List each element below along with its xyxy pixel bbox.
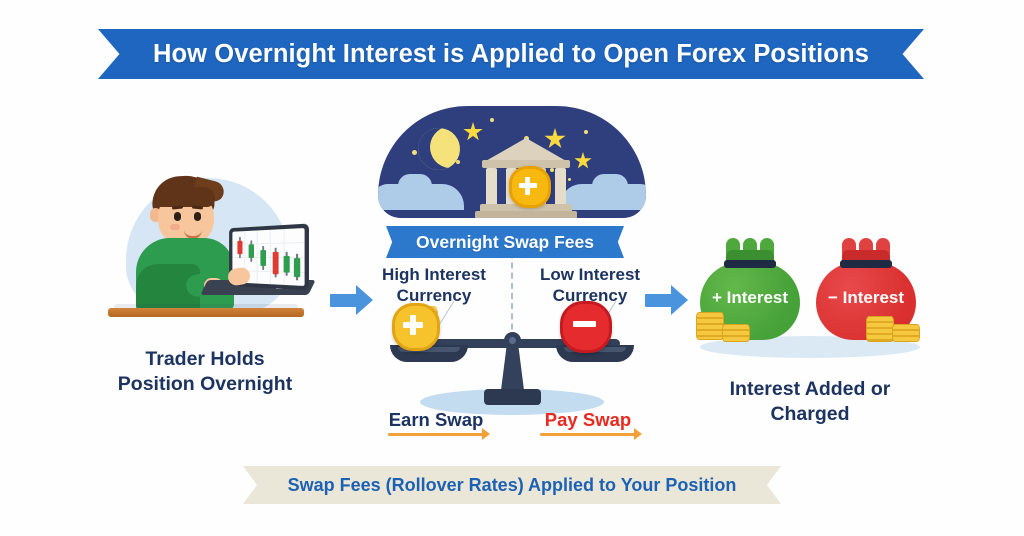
plus-bar-vertical (525, 177, 530, 195)
coin-stack-icon (866, 316, 894, 342)
gold-plus-coin-icon (392, 303, 440, 351)
bank-column (555, 168, 566, 206)
chart-candle (294, 258, 300, 277)
bank-pediment (484, 138, 568, 162)
coin-stack-icon (722, 324, 750, 342)
overnight-swap-fees-label: Overnight Swap Fees (416, 232, 594, 253)
plus-bar-vertical (410, 315, 416, 335)
minus-bar (573, 321, 596, 327)
infographic-canvas: How Overnight Interest is Applied to Ope… (0, 0, 1024, 536)
trader-cheek-icon (170, 224, 180, 230)
chart-candle (273, 252, 279, 275)
trader-fringe-icon (155, 187, 215, 207)
chart-candle (284, 256, 290, 273)
arrow-shaft (645, 294, 673, 307)
desk-icon (108, 308, 304, 317)
high-interest-line-1: High Interest (374, 264, 494, 285)
trader-illustration (108, 168, 304, 330)
cloud-icon (592, 174, 628, 198)
footer-banner: Swap Fees (Rollover Rates) Applied to Yo… (243, 466, 781, 504)
star-dot-icon (456, 160, 460, 164)
earn-swap-label: Earn Swap (378, 409, 494, 431)
crescent-moon-icon (413, 123, 466, 176)
red-minus-circle-icon (560, 301, 612, 353)
overnight-swap-fees-banner: Overnight Swap Fees (386, 226, 624, 258)
gold-coin-plus-icon (509, 166, 551, 208)
star-dot-icon (584, 130, 588, 134)
scale-pivot (504, 332, 521, 349)
trader-eye-left-icon (174, 212, 181, 221)
step-3-caption-line-1: Interest Added or (690, 377, 930, 402)
star-icon (574, 152, 592, 170)
coin-stack-icon (892, 324, 920, 342)
step-1-caption-line-1: Trader Holds (85, 347, 325, 372)
swap-fees-illustration: High Interest Currency Low Interest Curr… (368, 106, 656, 424)
chart-candle (260, 250, 266, 266)
coin-stack-icon (696, 312, 724, 340)
page-title: How Overnight Interest is Applied to Ope… (153, 40, 869, 69)
scale-foot (484, 389, 541, 405)
chart-candle (249, 244, 254, 258)
step-1-caption-line-2: Position Overnight (85, 372, 325, 397)
chart-gridline (232, 242, 304, 245)
step-1-caption: Trader Holds Position Overnight (85, 347, 325, 397)
pay-swap-label: Pay Swap (530, 409, 646, 431)
earn-swap-underline (388, 433, 484, 436)
money-bags-illustration: + Interest − Interest (694, 218, 926, 368)
star-dot-icon (448, 134, 453, 139)
title-banner: How Overnight Interest is Applied to Ope… (98, 29, 924, 79)
bank-building-icon (482, 138, 570, 218)
green-bag-label: + Interest (700, 288, 800, 308)
bank-column (486, 168, 497, 206)
bank-plinth (475, 211, 577, 218)
pay-swap-underline (540, 433, 636, 436)
chart-candle (237, 241, 242, 254)
arrow-shaft (330, 294, 358, 307)
star-dot-icon (412, 150, 417, 155)
star-dot-icon (490, 118, 494, 122)
low-interest-line-1: Low Interest (530, 264, 650, 285)
step-3-caption-line-2: Charged (690, 402, 930, 427)
trader-eye-right-icon (194, 212, 201, 221)
night-sky-icon (378, 106, 646, 218)
step-3-caption: Interest Added or Charged (690, 377, 930, 427)
balance-scale-icon: Earn Swap Pay Swap (368, 291, 656, 424)
bag-tie (724, 260, 776, 268)
pay-swap-arrow-head (634, 428, 642, 440)
red-bag-label: − Interest (816, 288, 916, 308)
footer-label: Swap Fees (Rollover Rates) Applied to Yo… (288, 475, 737, 496)
flow-arrow-2-icon (645, 285, 689, 316)
arrow-head (671, 285, 688, 315)
star-icon (463, 122, 483, 142)
bag-tie (840, 260, 892, 268)
cloud-icon (398, 174, 432, 198)
earn-swap-arrow-head (482, 428, 490, 440)
